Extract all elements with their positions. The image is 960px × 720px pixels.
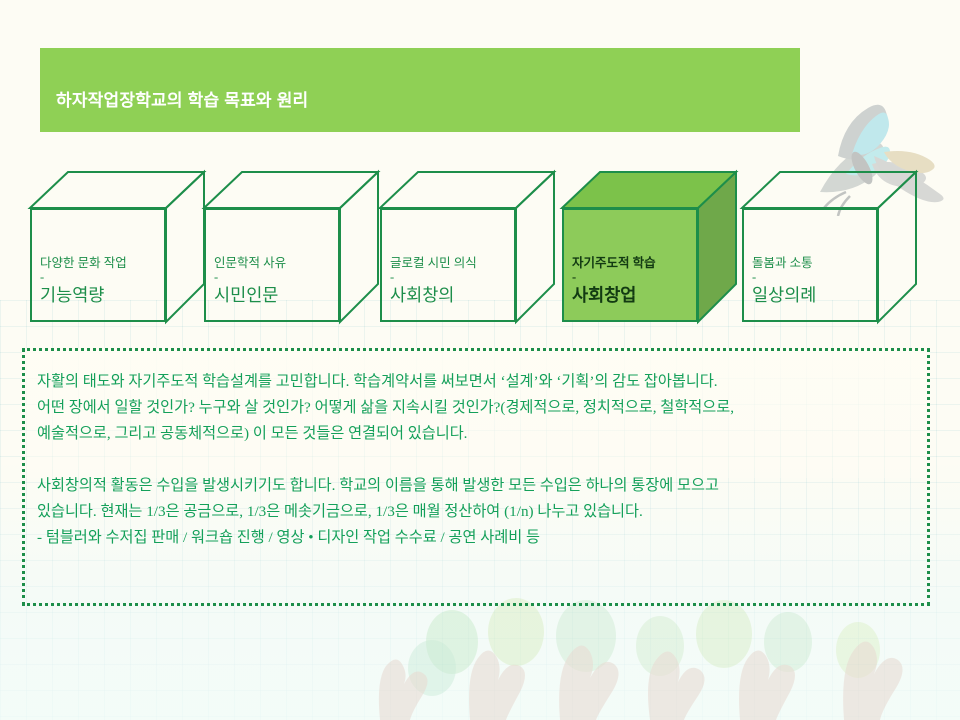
slide-canvas: 하자작업장학교의 학습 목표와 원리 다양한 문화 작업 - 기능역량 <box>0 0 960 720</box>
cube-item-2[interactable]: 인문학적 사유 - 시민인문 <box>204 208 340 322</box>
note-content: 자활의 태도와 자기주도적 학습설계를 고민합니다. 학습계약서를 써보면서 ‘… <box>25 351 927 551</box>
cube-item-3[interactable]: 글로컬 시민 의식 - 사회창의 <box>380 208 516 322</box>
cube-main-label: 시민인문 <box>214 283 336 307</box>
cube-label: 돌봄과 소통 - 일상의례 <box>752 256 874 307</box>
cube-top-label: 인문학적 사유 <box>214 256 336 271</box>
cube-top-face <box>562 170 698 208</box>
cube-main-label: 사회창의 <box>390 283 512 307</box>
cube-dash: - <box>572 271 694 283</box>
cube-item-1[interactable]: 다양한 문화 작업 - 기능역량 <box>30 208 166 322</box>
note-p2-line1: 사회창의적 활동은 수입을 발생시키기도 합니다. 학교의 이름을 통해 발생한… <box>37 473 911 499</box>
cube-item-4[interactable]: 자기주도적 학습 - 사회창업 <box>562 208 698 322</box>
cube-label: 인문학적 사유 - 시민인문 <box>214 256 336 307</box>
cube-top-label: 돌봄과 소통 <box>752 256 874 271</box>
cube-dash: - <box>214 271 336 283</box>
cube-top-label: 자기주도적 학습 <box>572 256 694 271</box>
cube-main-label: 기능역량 <box>40 283 162 307</box>
note-p1-line3: 예술적으로, 그리고 공동체적으로) 이 모든 것들은 연결되어 있습니다. <box>37 421 911 447</box>
cube-main-label: 사회창업 <box>572 283 694 307</box>
cube-top-label: 다양한 문화 작업 <box>40 256 162 271</box>
title-banner: 하자작업장학교의 학습 목표와 원리 <box>40 48 800 132</box>
cube-row: 다양한 문화 작업 - 기능역량 인문학적 사유 - 시민인문 <box>0 172 960 332</box>
note-p2-line2: 있습니다. 현재는 1/3은 공금으로, 1/3은 메솟기금으로, 1/3은 매… <box>37 499 911 525</box>
cube-dash: - <box>752 271 874 283</box>
cube-dash: - <box>40 271 162 283</box>
cube-top-label: 글로컬 시민 의식 <box>390 256 512 271</box>
cube-top-face <box>742 170 878 208</box>
cube-item-5[interactable]: 돌봄과 소통 - 일상의례 <box>742 208 878 322</box>
cube-top-face <box>30 170 166 208</box>
page-title: 하자작업장학교의 학습 목표와 원리 <box>40 70 308 111</box>
note-paragraph-gap <box>37 447 911 473</box>
cube-dash: - <box>390 271 512 283</box>
note-p2-line3: - 텀블러와 수저집 판매 / 워크숍 진행 / 영상 • 디자인 작업 수수료… <box>37 525 911 551</box>
cube-label: 자기주도적 학습 - 사회창업 <box>572 256 694 307</box>
cube-label: 다양한 문화 작업 - 기능역량 <box>40 256 162 307</box>
note-p1-line1: 자활의 태도와 자기주도적 학습설계를 고민합니다. 학습계약서를 써보면서 ‘… <box>37 369 911 395</box>
cube-label: 글로컬 시민 의식 - 사회창의 <box>390 256 512 307</box>
note-p1-line2: 어떤 장에서 일할 것인가? 누구와 살 것인가? 어떻게 삶을 지속시킬 것인… <box>37 395 911 421</box>
cube-top-face <box>204 170 340 208</box>
cube-main-label: 일상의례 <box>752 283 874 307</box>
cube-top-face <box>380 170 516 208</box>
watercolor-trees-hands-icon <box>0 590 960 720</box>
note-box: 자활의 태도와 자기주도적 학습설계를 고민합니다. 학습계약서를 써보면서 ‘… <box>22 348 930 606</box>
